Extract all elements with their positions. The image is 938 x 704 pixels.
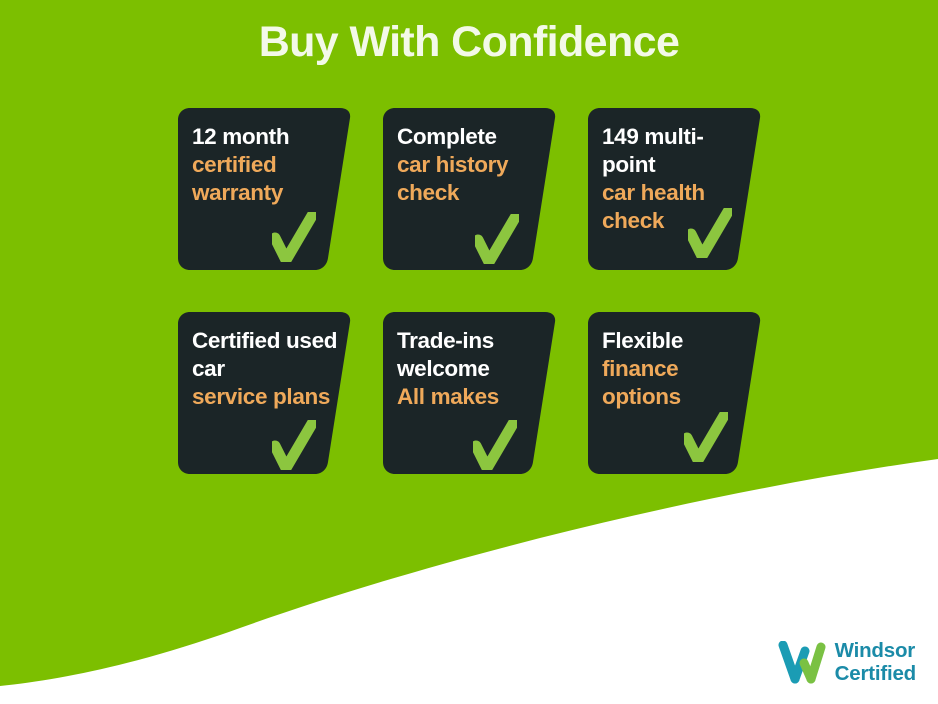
benefit-card-flexible-finance[interactable]: Flexible finance options	[588, 312, 766, 474]
windsor-w-icon	[778, 641, 826, 685]
card-primary-text: 12 month	[192, 123, 342, 151]
benefit-card-trade-ins[interactable]: Trade-ins welcome All makes	[383, 312, 561, 474]
card-text-block: Complete car history check	[397, 123, 547, 207]
card-accent-text: service plans	[192, 383, 342, 411]
check-mark-icon	[475, 214, 519, 264]
card-accent-text: car history check	[397, 151, 547, 207]
logo-line-1: Windsor	[835, 640, 916, 663]
card-primary-text: 149 multi-point	[602, 123, 752, 179]
card-primary-text: Trade-ins welcome	[397, 327, 547, 383]
benefit-card-car-history-check[interactable]: Complete car history check	[383, 108, 561, 270]
brand-logo: Windsor Certified	[778, 640, 916, 686]
card-primary-text: Flexible	[602, 327, 752, 355]
check-mark-icon	[272, 420, 316, 470]
benefit-card-grid: 12 month certified warranty Complete car…	[178, 108, 778, 474]
check-mark-icon	[272, 212, 316, 262]
card-accent-text: finance options	[602, 355, 752, 411]
check-mark-icon	[688, 208, 732, 258]
card-text-block: Trade-ins welcome All makes	[397, 327, 547, 411]
card-accent-text: certified warranty	[192, 151, 342, 207]
card-primary-text: Complete	[397, 123, 547, 151]
card-primary-text: Certified used car	[192, 327, 342, 383]
benefit-card-service-plans[interactable]: Certified used car service plans	[178, 312, 356, 474]
card-text-block: 12 month certified warranty	[192, 123, 342, 207]
page-title: Buy With Confidence	[0, 18, 938, 67]
card-accent-text: All makes	[397, 383, 547, 411]
benefit-card-multi-point-check[interactable]: 149 multi-point car health check	[588, 108, 766, 270]
card-text-block: Flexible finance options	[602, 327, 752, 411]
logo-line-2: Certified	[835, 663, 916, 686]
check-mark-icon	[473, 420, 517, 470]
card-text-block: Certified used car service plans	[192, 327, 342, 411]
poster-canvas: Buy With Confidence 12 month certified w…	[0, 0, 938, 704]
logo-wordmark: Windsor Certified	[835, 640, 916, 686]
benefit-card-certified-warranty[interactable]: 12 month certified warranty	[178, 108, 356, 270]
check-mark-icon	[684, 412, 728, 462]
